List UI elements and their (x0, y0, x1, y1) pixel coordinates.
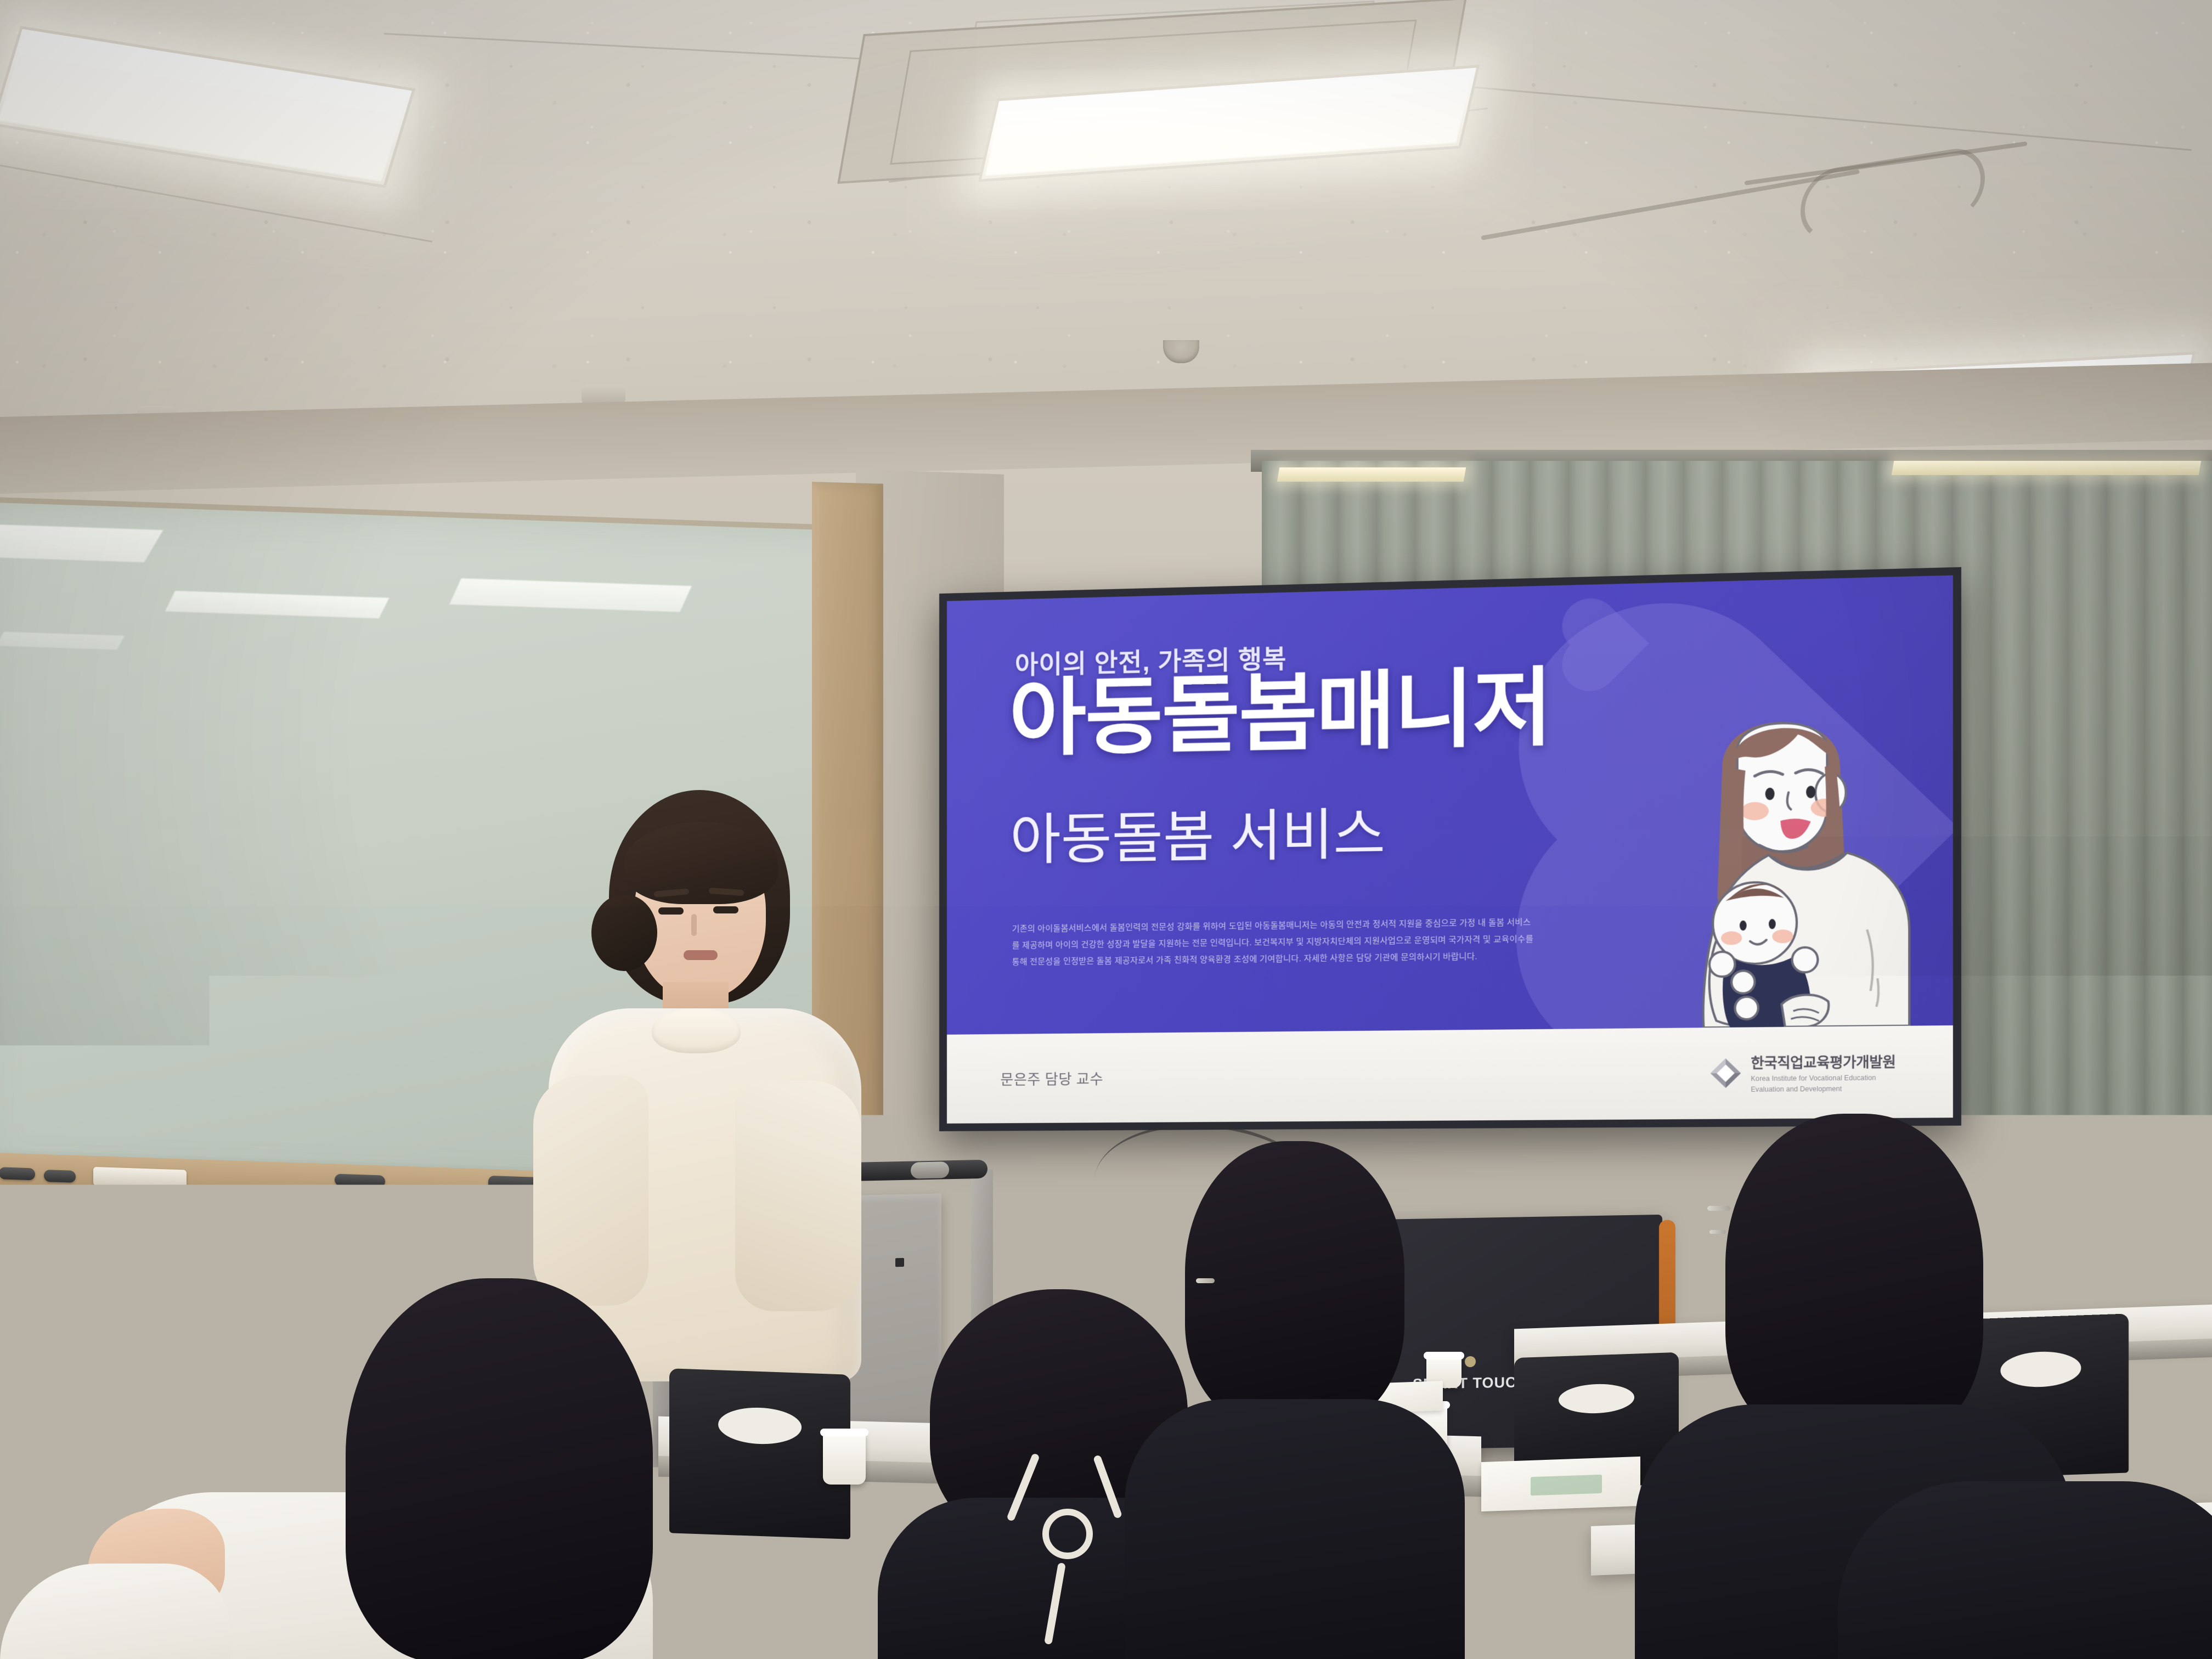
slide-footer: 문은주 담당 교수 한국직업교육평가개발원 Korea Institute fo… (947, 1025, 1953, 1124)
chair-handhold (1559, 1383, 1634, 1414)
whiteboard-marker[interactable] (0, 1167, 35, 1180)
caregiver-illustration (1635, 662, 1927, 1029)
organization-diamond-icon (1709, 1057, 1742, 1090)
lecture-hall-photo: 아이의 안전, 가족의 행복 아동돌봄매니저 아동돌봄 서비스 기존의 아이돌봄… (0, 0, 2212, 1659)
audience-head (1185, 1141, 1404, 1426)
organization-name-en-2: Evaluation and Development (1751, 1084, 1895, 1094)
whiteboard-glare (165, 591, 390, 618)
presentation-slide: 아이의 안전, 가족의 행복 아동돌봄매니저 아동돌봄 서비스 기존의 아이돌봄… (947, 575, 1953, 1124)
audience-member-center-right (1141, 1141, 1448, 1659)
lectern-bar-cap-right (911, 1161, 949, 1178)
slide-title: 아동돌봄매니저 (1009, 663, 1551, 764)
presenter-nose (691, 914, 697, 936)
slide-subtitle: 아동돌봄 서비스 (1010, 788, 1385, 875)
presenter-eye-left (658, 907, 684, 915)
audience-sleeve (0, 1564, 230, 1659)
audience-head (1725, 1114, 1983, 1443)
presenter-eye-right (713, 906, 738, 913)
eyeglasses-arm (1709, 1230, 1726, 1234)
audience-member-front-left (137, 1278, 686, 1659)
eyeglasses-arm (1196, 1278, 1215, 1283)
audience-long-hair (346, 1278, 653, 1659)
organization-name-en-1: Korea Institute for Vocational Education (1751, 1073, 1895, 1084)
whiteboard-glare (449, 578, 691, 612)
presenter-mouth (684, 950, 718, 960)
presenter-hair-fringe (624, 822, 778, 904)
projection-screen[interactable]: 아이의 안전, 가족의 행복 아동돌봄매니저 아동돌봄 서비스 기존의 아이돌봄… (939, 567, 1961, 1131)
presenter-sleeve-left (533, 1075, 648, 1306)
hair-clip-icon (1042, 1509, 1093, 1559)
handout-highlight (1531, 1475, 1602, 1496)
organization-logo-block: 한국직업교육평가개발원 Korea Institute for Vocation… (1709, 1051, 1895, 1094)
presenter-hair-bun (591, 894, 657, 971)
slide-fineprint: 기존의 아이돌봄서비스에서 돌봄인력의 전문성 강화를 위하여 도입된 아동돌봄… (1012, 914, 1539, 970)
whiteboard-eraser[interactable] (93, 1167, 187, 1189)
organization-name-ko: 한국직업교육평가개발원 (1751, 1051, 1895, 1072)
whiteboard-glare (0, 632, 125, 650)
logo-accent-dot (1465, 1356, 1476, 1367)
presenter-wristwatch (724, 1263, 769, 1294)
eyeglasses-arm (1707, 1206, 1730, 1211)
paper-cup[interactable] (823, 1432, 866, 1485)
slide-presenter-credit: 문은주 담당 교수 (1000, 1068, 1103, 1089)
slide-body: 아이의 안전, 가족의 행복 아동돌봄매니저 아동돌봄 서비스 기존의 아이돌봄… (947, 575, 1953, 1035)
lectern-hole (895, 1258, 904, 1267)
whiteboard-marker[interactable] (44, 1170, 76, 1183)
wall-uplight (1277, 467, 1466, 482)
audience-shoulders (1125, 1399, 1465, 1659)
presenter-collar (652, 1008, 741, 1053)
whiteboard-glare (0, 524, 163, 562)
whiteboard-marker[interactable] (335, 1174, 385, 1188)
chair-handhold (718, 1406, 802, 1445)
audience-member-front-right (1854, 1481, 2212, 1659)
audience-shoulders (1838, 1481, 2212, 1659)
wall-uplight (1892, 461, 2202, 475)
